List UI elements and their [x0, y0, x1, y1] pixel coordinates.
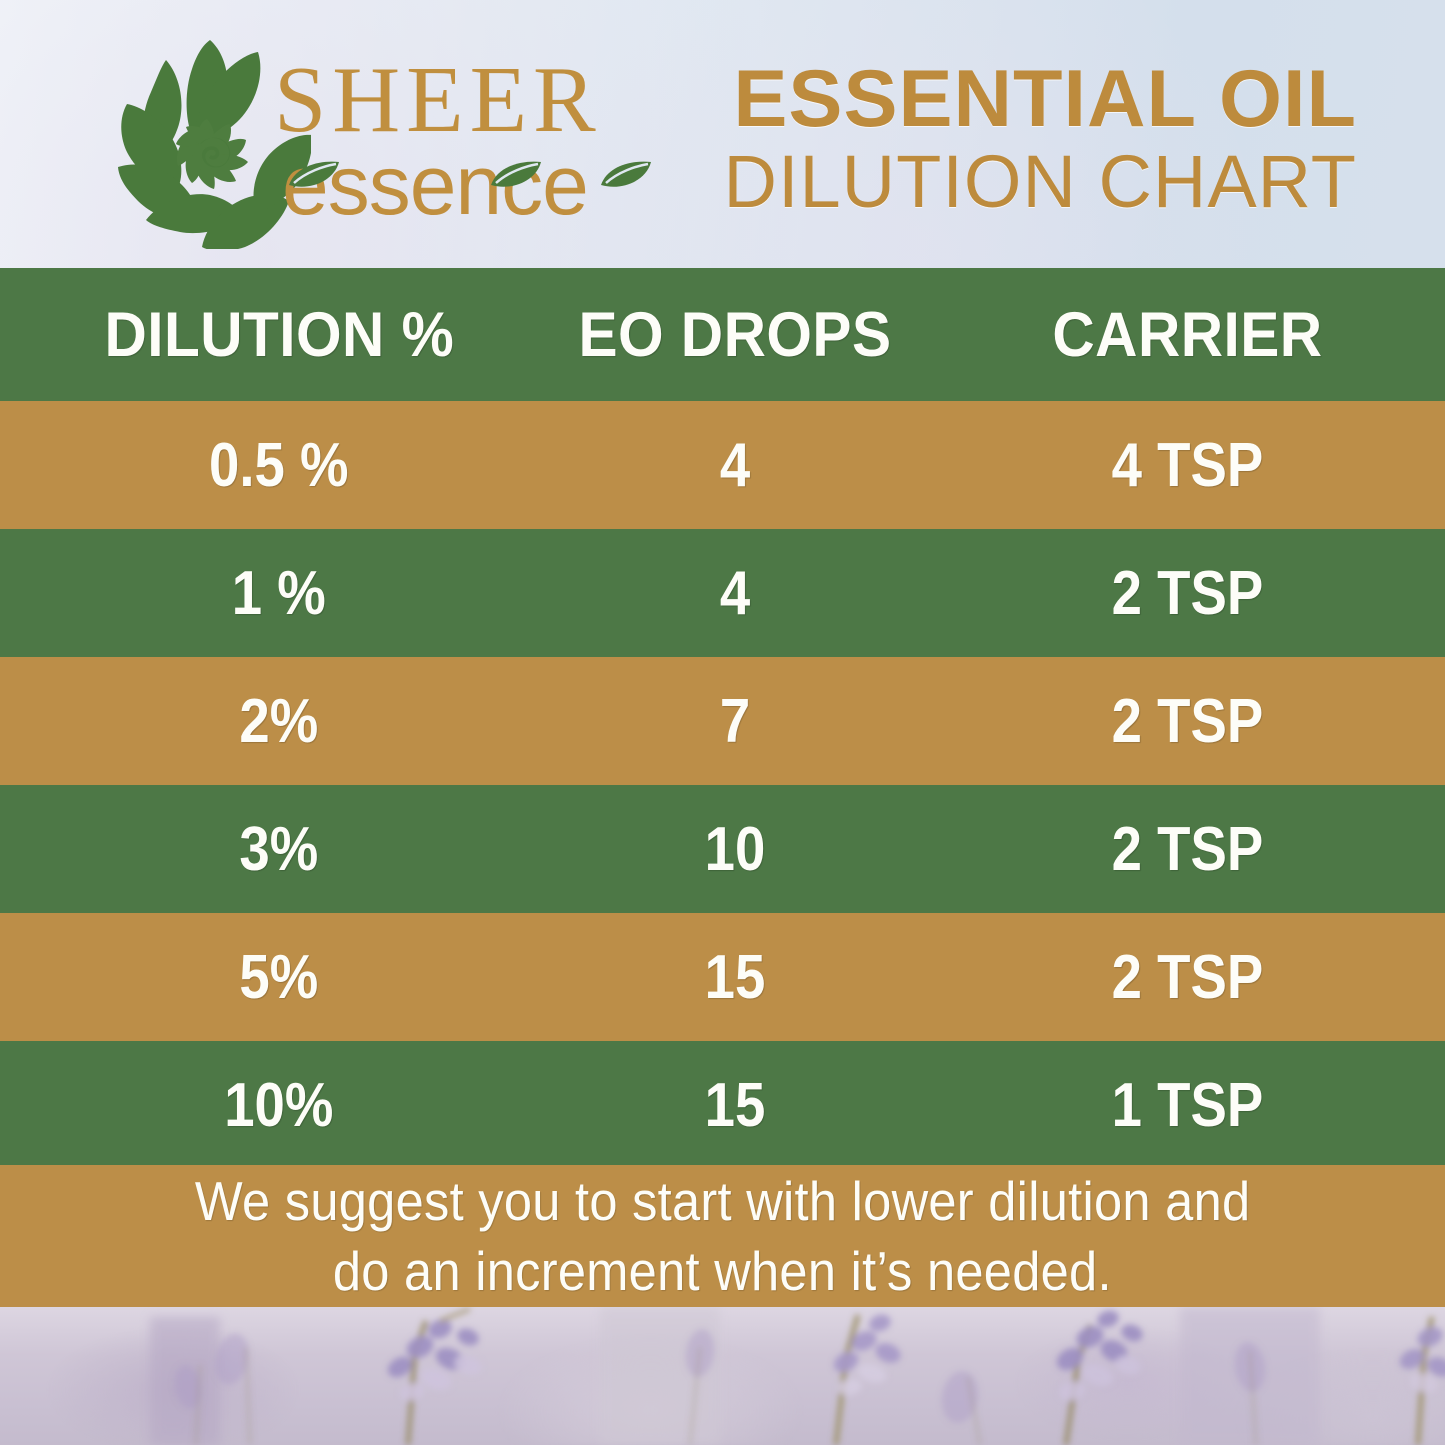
- leaf-accent-icon: [286, 158, 342, 192]
- cell-eo-drops: 15: [563, 1070, 906, 1141]
- cell-carrier: 1 TSP: [961, 1070, 1414, 1141]
- dilution-chart-infographic: SHEER essence: [0, 0, 1445, 1445]
- cell-carrier: 2 TSP: [961, 942, 1414, 1013]
- lavender-field-photo: [0, 1307, 1445, 1445]
- column-header-eo-drops: EO DROPS: [554, 299, 917, 371]
- title-line-1: ESSENTIAL OIL: [724, 56, 1357, 142]
- suggestion-note: We suggest you to start with lower dilut…: [0, 1165, 1445, 1307]
- page-title: ESSENTIAL OIL DILUTION CHART: [724, 56, 1357, 222]
- brand-name-top: SHEER: [274, 52, 704, 148]
- cell-eo-drops: 4: [563, 430, 906, 501]
- cell-carrier: 2 TSP: [961, 686, 1414, 757]
- cell-carrier: 2 TSP: [961, 558, 1414, 629]
- cell-dilution: 1 %: [32, 558, 507, 629]
- column-header-carrier: CARRIER: [948, 299, 1427, 371]
- cell-eo-drops: 15: [563, 942, 906, 1013]
- leaf-accent-icon: [488, 158, 544, 192]
- lavender-stems: [0, 1307, 1445, 1445]
- note-line-2: do an increment when it’s needed.: [333, 1236, 1112, 1306]
- cell-eo-drops: 4: [563, 558, 906, 629]
- cell-dilution: 0.5 %: [32, 430, 507, 501]
- cell-dilution: 10%: [32, 1070, 507, 1141]
- table-row: 1 % 4 2 TSP: [0, 529, 1445, 657]
- leaf-accent-icon: [598, 158, 654, 192]
- table-header-row: DILUTION % EO DROPS CARRIER: [0, 268, 1445, 401]
- brand-wordmark: SHEER essence: [274, 52, 704, 252]
- brand-name-bottom: essence: [282, 142, 704, 228]
- table-row: 10% 15 1 TSP: [0, 1041, 1445, 1169]
- dilution-table: DILUTION % EO DROPS CARRIER 0.5 % 4 4 TS…: [0, 268, 1445, 1169]
- cell-dilution: 5%: [32, 942, 507, 1013]
- cell-eo-drops: 10: [563, 814, 906, 885]
- note-line-1: We suggest you to start with lower dilut…: [195, 1166, 1251, 1236]
- header-banner: SHEER essence: [0, 0, 1445, 268]
- cell-dilution: 3%: [32, 814, 507, 885]
- cell-eo-drops: 7: [563, 686, 906, 757]
- table-row: 2% 7 2 TSP: [0, 657, 1445, 785]
- title-line-2: DILUTION CHART: [724, 142, 1357, 222]
- table-row: 5% 15 2 TSP: [0, 913, 1445, 1041]
- brand-logo: SHEER essence: [96, 22, 696, 252]
- table-row: 0.5 % 4 4 TSP: [0, 401, 1445, 529]
- cell-dilution: 2%: [32, 686, 507, 757]
- table-row: 3% 10 2 TSP: [0, 785, 1445, 913]
- cell-carrier: 4 TSP: [961, 430, 1414, 501]
- cell-carrier: 2 TSP: [961, 814, 1414, 885]
- column-header-dilution: DILUTION %: [19, 299, 521, 371]
